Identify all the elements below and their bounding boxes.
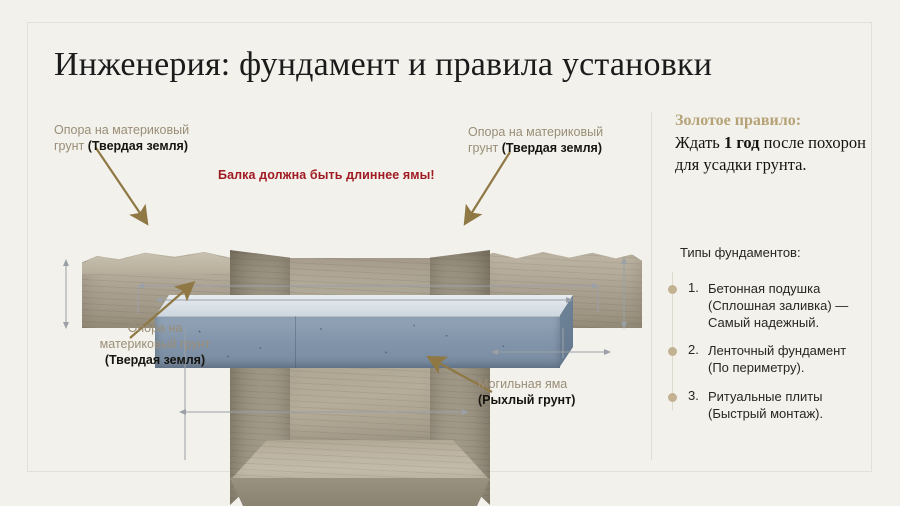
list-line-1: Ленточный фундамент (708, 343, 846, 358)
list-item-text: Бетонная подушка(Сплошная заливка) —Самы… (708, 280, 888, 331)
list-item-number: 1. (688, 280, 699, 295)
bullet-dot-icon (668, 285, 677, 294)
label-bearing-top-left: Опора на материковый грунт (Твердая земл… (54, 122, 254, 154)
list-line-2: (Сплошная заливка) — (708, 298, 848, 313)
list-item-number: 2. (688, 342, 699, 357)
golden-rule-body: Ждать 1 год после похорон для усадки гру… (675, 132, 875, 176)
grave-pit (230, 250, 490, 505)
list-line-1: Ритуальные плиты (708, 389, 823, 404)
bullet-dot-icon (668, 347, 677, 356)
label-hard-text: (Твердая земля) (88, 139, 188, 153)
list-item-text: Ленточный фундамент(По периметру). (708, 342, 888, 376)
list-line-2: (Быстрый монтаж). (708, 406, 823, 421)
label-bearing-top-right: Опора на материковый грунт (Твердая земл… (468, 124, 658, 156)
slide-canvas: Инженерия: фундамент и правила установки (0, 0, 900, 496)
list-item-text: Ритуальные плиты(Быстрый монтаж). (708, 388, 888, 422)
label-soft-line-1: Опора на (128, 321, 183, 335)
beam-joint-seam (295, 316, 296, 368)
beam-warning-label: Балка должна быть длиннее ямы! (218, 168, 435, 182)
golden-rule-heading: Золотое правило: (675, 112, 875, 130)
arrow-down-left-icon (466, 152, 510, 222)
list-line-1: Бетонная подушка (708, 281, 820, 296)
label-hard-text: (Рыхлый грунт) (478, 393, 575, 407)
label-bearing-bottom-left: Опора на материковый грунт (Твердая земл… (60, 320, 250, 368)
list-item-number: 3. (688, 388, 699, 403)
label-soft-text-2: грунт (468, 141, 502, 155)
label-soft-text: Могильная яма (478, 377, 567, 391)
page-title: Инженерия: фундамент и правила установки (54, 45, 834, 85)
label-soft-line-2: материковый грунт (100, 337, 211, 351)
label-grave-pit: Могильная яма (Рыхлый грунт) (478, 376, 658, 408)
list-line-3: Самый надежный. (708, 315, 819, 330)
label-soft-text: Опора на материковый (54, 123, 189, 137)
types-heading: Типы фундаментов: (680, 245, 801, 260)
golden-rule-panel: Золотое правило: Ждать 1 год после похор… (675, 112, 875, 176)
concrete-beam-top-face (155, 295, 573, 317)
golden-rule-emphasis: 1 год (724, 133, 760, 152)
label-soft-text-2: грунт (54, 139, 88, 153)
label-hard-text: (Твердая земля) (105, 353, 205, 367)
bullet-dot-icon (668, 393, 677, 402)
pit-floor-front-edge (230, 478, 490, 506)
golden-rule-pre: Ждать (675, 133, 724, 152)
arrow-down-right-icon (96, 148, 146, 222)
list-line-2: (По периметру). (708, 360, 805, 375)
label-hard-text: (Твердая земля) (502, 141, 602, 155)
label-soft-text: Опора на материковый (468, 125, 603, 139)
